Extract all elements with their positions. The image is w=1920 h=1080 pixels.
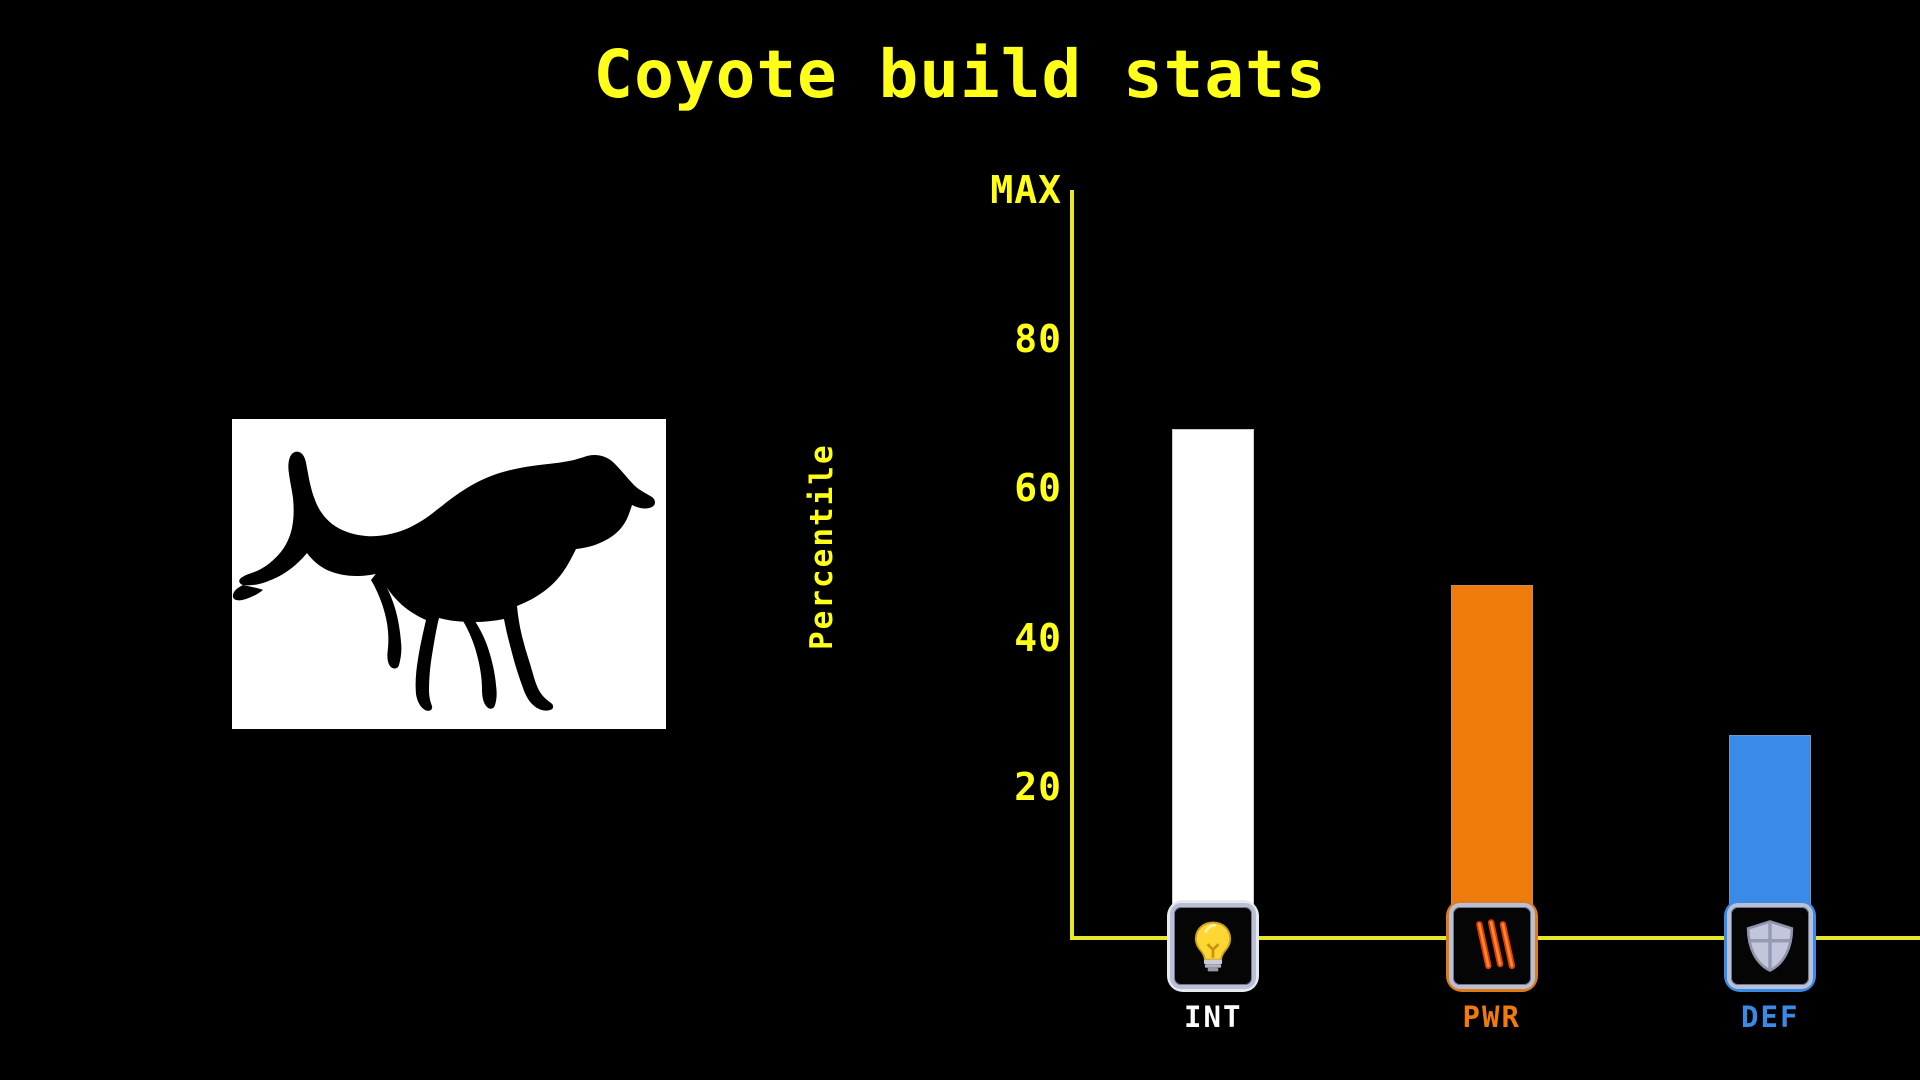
- claw-slash-icon: [1449, 903, 1535, 989]
- bar-pwr[interactable]: [1451, 585, 1533, 936]
- lightbulb-icon: [1170, 903, 1256, 989]
- icon-frame-pwr[interactable]: [1446, 900, 1538, 992]
- y-tick-20: 20: [1014, 765, 1062, 809]
- bar-int[interactable]: [1172, 429, 1254, 936]
- stat-cell-pwr[interactable]: PWR: [1436, 900, 1548, 1034]
- y-tick-40: 40: [1014, 616, 1062, 660]
- stat-label-int: INT: [1157, 1000, 1269, 1034]
- y-tick-80: 80: [1014, 317, 1062, 361]
- y-tick-60: 60: [1014, 466, 1062, 510]
- stat-label-pwr: PWR: [1436, 1000, 1548, 1034]
- stat-icon-row: INTPWRDEFMBLHPSTL: [890, 900, 1890, 1080]
- shield-icon: [1727, 903, 1813, 989]
- icon-frame-int[interactable]: [1167, 900, 1259, 992]
- icon-frame-def[interactable]: [1724, 900, 1816, 992]
- stat-label-def: DEF: [1714, 1000, 1826, 1034]
- stat-cell-int[interactable]: INT: [1157, 900, 1269, 1034]
- page-title: Coyote build stats: [0, 36, 1920, 113]
- y-axis-title: Percentile: [804, 443, 840, 650]
- y-tick-max: MAX: [990, 168, 1062, 212]
- stat-cell-def[interactable]: DEF: [1714, 900, 1826, 1034]
- coyote-silhouette-icon: [232, 419, 666, 729]
- coyote-silhouette-panel: [232, 419, 666, 729]
- bar-group: [1074, 190, 1920, 936]
